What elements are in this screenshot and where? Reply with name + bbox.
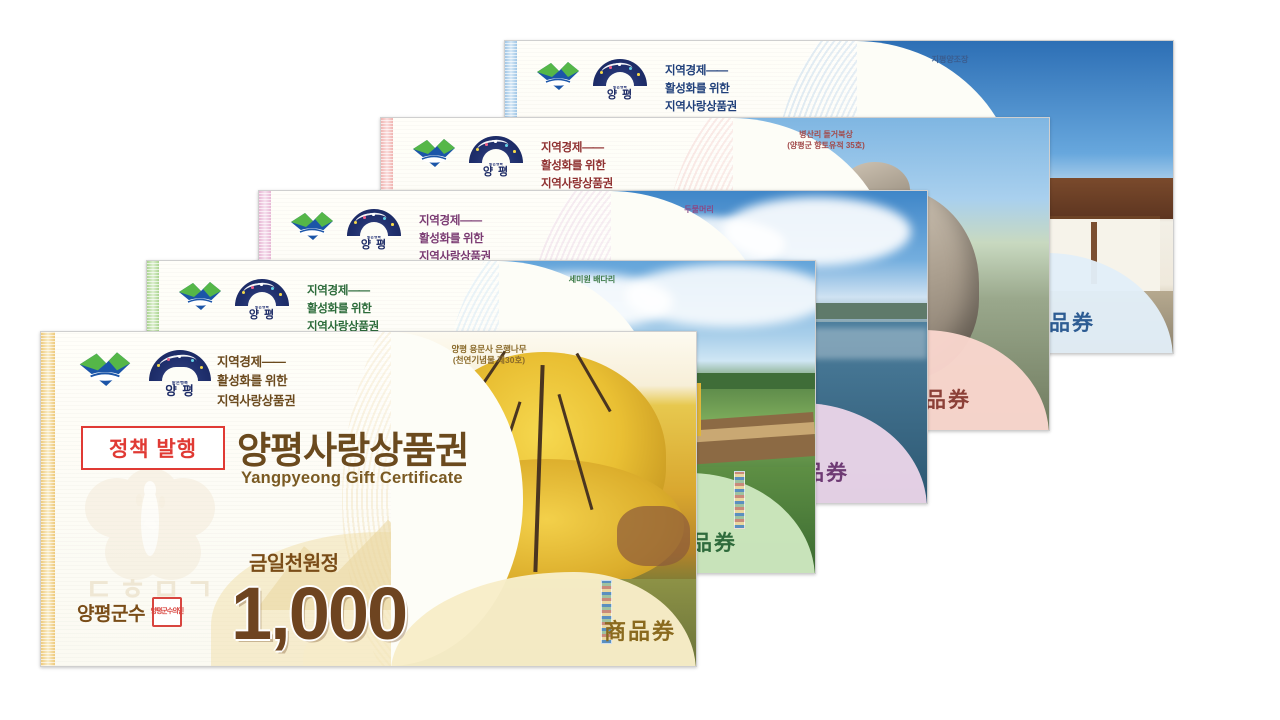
headline-line1: 지역경제 <box>665 65 706 77</box>
headline-line2: 활성화를 위한 <box>307 301 379 319</box>
bi-name: 양 평 <box>347 240 401 252</box>
photo-caption: 지평양조장 <box>885 55 1015 66</box>
yangpyeong-ci-icon <box>535 60 581 100</box>
headline-dash: —— <box>262 355 285 369</box>
headline-line3: 지역사랑상품권 <box>217 392 295 411</box>
headline-line1: 지역경제 <box>541 142 582 154</box>
issuer-signature: 양평군수 양평군수의인 <box>77 597 182 627</box>
headline-line1: 지역경제 <box>307 285 348 297</box>
headline-line2: 활성화를 위한 <box>419 231 491 249</box>
certificate-title-en: Yangpyeong Gift Certificate <box>241 469 463 488</box>
policy-issue-badge: 정책 발행 <box>81 426 225 470</box>
yangpyeong-bi-icon: 맑은행복 양 평 <box>235 279 289 321</box>
brand-logos: 맑은행복 양 평 <box>289 209 401 251</box>
bi-name: 양 평 <box>149 385 211 398</box>
shop-badge: 商品券 <box>604 614 676 646</box>
brand-logos: 맑은행복 양 평 <box>535 59 647 101</box>
certificate-title-ko: 양평사랑상품권 <box>237 420 468 474</box>
photo-caption-line2: (양평군 향토유적 35호) <box>751 141 901 152</box>
headline-line1: 지역경제 <box>217 355 262 369</box>
issuer-name: 양평군수 <box>77 599 145 626</box>
amount-value: 1,000 <box>231 577 406 651</box>
headline-dash: —— <box>460 215 481 227</box>
headline-dash: —— <box>348 285 369 297</box>
bi-name: 양 평 <box>593 90 647 102</box>
headline-line1: 지역경제 <box>419 215 460 227</box>
headline-line2: 활성화를 위한 <box>665 81 737 99</box>
photo-caption: 두물머리 <box>639 205 759 216</box>
brand-logos: 맑은행복 양 평 <box>177 279 289 321</box>
photo-caption-line1: 지평양조장 <box>885 55 1015 66</box>
yangpyeong-ci-icon <box>77 350 133 398</box>
headline-line2: 활성화를 위한 <box>541 158 613 176</box>
photo-caption-line1: 양평 용문사 은행나무 <box>409 344 569 355</box>
yangpyeong-bi-icon: 맑은행복 양 평 <box>593 59 647 101</box>
card-headline: 지역경제—— 활성화를 위한 지역사랑상품권 <box>419 213 491 266</box>
photo-caption-line2: (천연기념물 제30호) <box>409 355 569 366</box>
yangpyeong-ci-icon <box>177 280 223 320</box>
headline-line2: 활성화를 위한 <box>217 372 295 391</box>
bi-name: 양 평 <box>235 310 289 322</box>
official-seal-icon: 양평군수의인 <box>152 597 182 627</box>
photo-caption-line1: 세미원 배다리 <box>527 275 657 286</box>
gift-certificate-card-front-gold[interactable]: 맑은행복 양 평 지역경제—— 활성화를 위한 지역사랑상품권 양평 용문사 은… <box>40 331 697 667</box>
card-headline: 지역경제—— 활성화를 위한 지역사랑상품권 <box>217 353 295 411</box>
photo-caption-line1: 병산리 돌거북상 <box>751 130 901 141</box>
brand-logos: 맑은행복 양 평 <box>77 350 211 398</box>
card-headline: 지역경제—— 활성화를 위한 지역사랑상품권 <box>665 63 737 116</box>
yangpyeong-ci-icon <box>411 137 457 177</box>
yangpyeong-bi-icon: 맑은행복 양 평 <box>469 136 523 178</box>
card-headline: 지역경제—— 활성화를 위한 지역사랑상품권 <box>541 140 613 193</box>
photo-caption: 병산리 돌거북상 (양평군 향토유적 35호) <box>751 130 901 152</box>
security-barcode <box>734 471 745 529</box>
policy-issue-label: 정책 발행 <box>109 433 197 463</box>
photo-caption-line1: 두물머리 <box>639 205 759 216</box>
brand-logos: 맑은행복 양 평 <box>411 136 523 178</box>
photo-caption: 양평 용문사 은행나무 (천연기념물 제30호) <box>409 344 569 367</box>
yangpyeong-bi-icon: 맑은행복 양 평 <box>149 350 211 398</box>
headline-dash: —— <box>582 142 603 154</box>
yangpyeong-bi-icon: 맑은행복 양 평 <box>347 209 401 251</box>
card-edge-strip <box>41 332 55 666</box>
certificate-stack: 맑은행복 양 평 지역경제—— 활성화를 위한 지역사랑상품권 지평양조장 商品… <box>0 0 1280 720</box>
card-headline: 지역경제—— 활성화를 위한 지역사랑상품권 <box>307 283 379 336</box>
yangpyeong-ci-icon <box>289 210 335 250</box>
headline-dash: —— <box>706 65 727 77</box>
headline-line3: 지역사랑상품권 <box>665 99 737 117</box>
photo-caption: 세미원 배다리 <box>527 275 657 286</box>
bi-name: 양 평 <box>469 167 523 179</box>
